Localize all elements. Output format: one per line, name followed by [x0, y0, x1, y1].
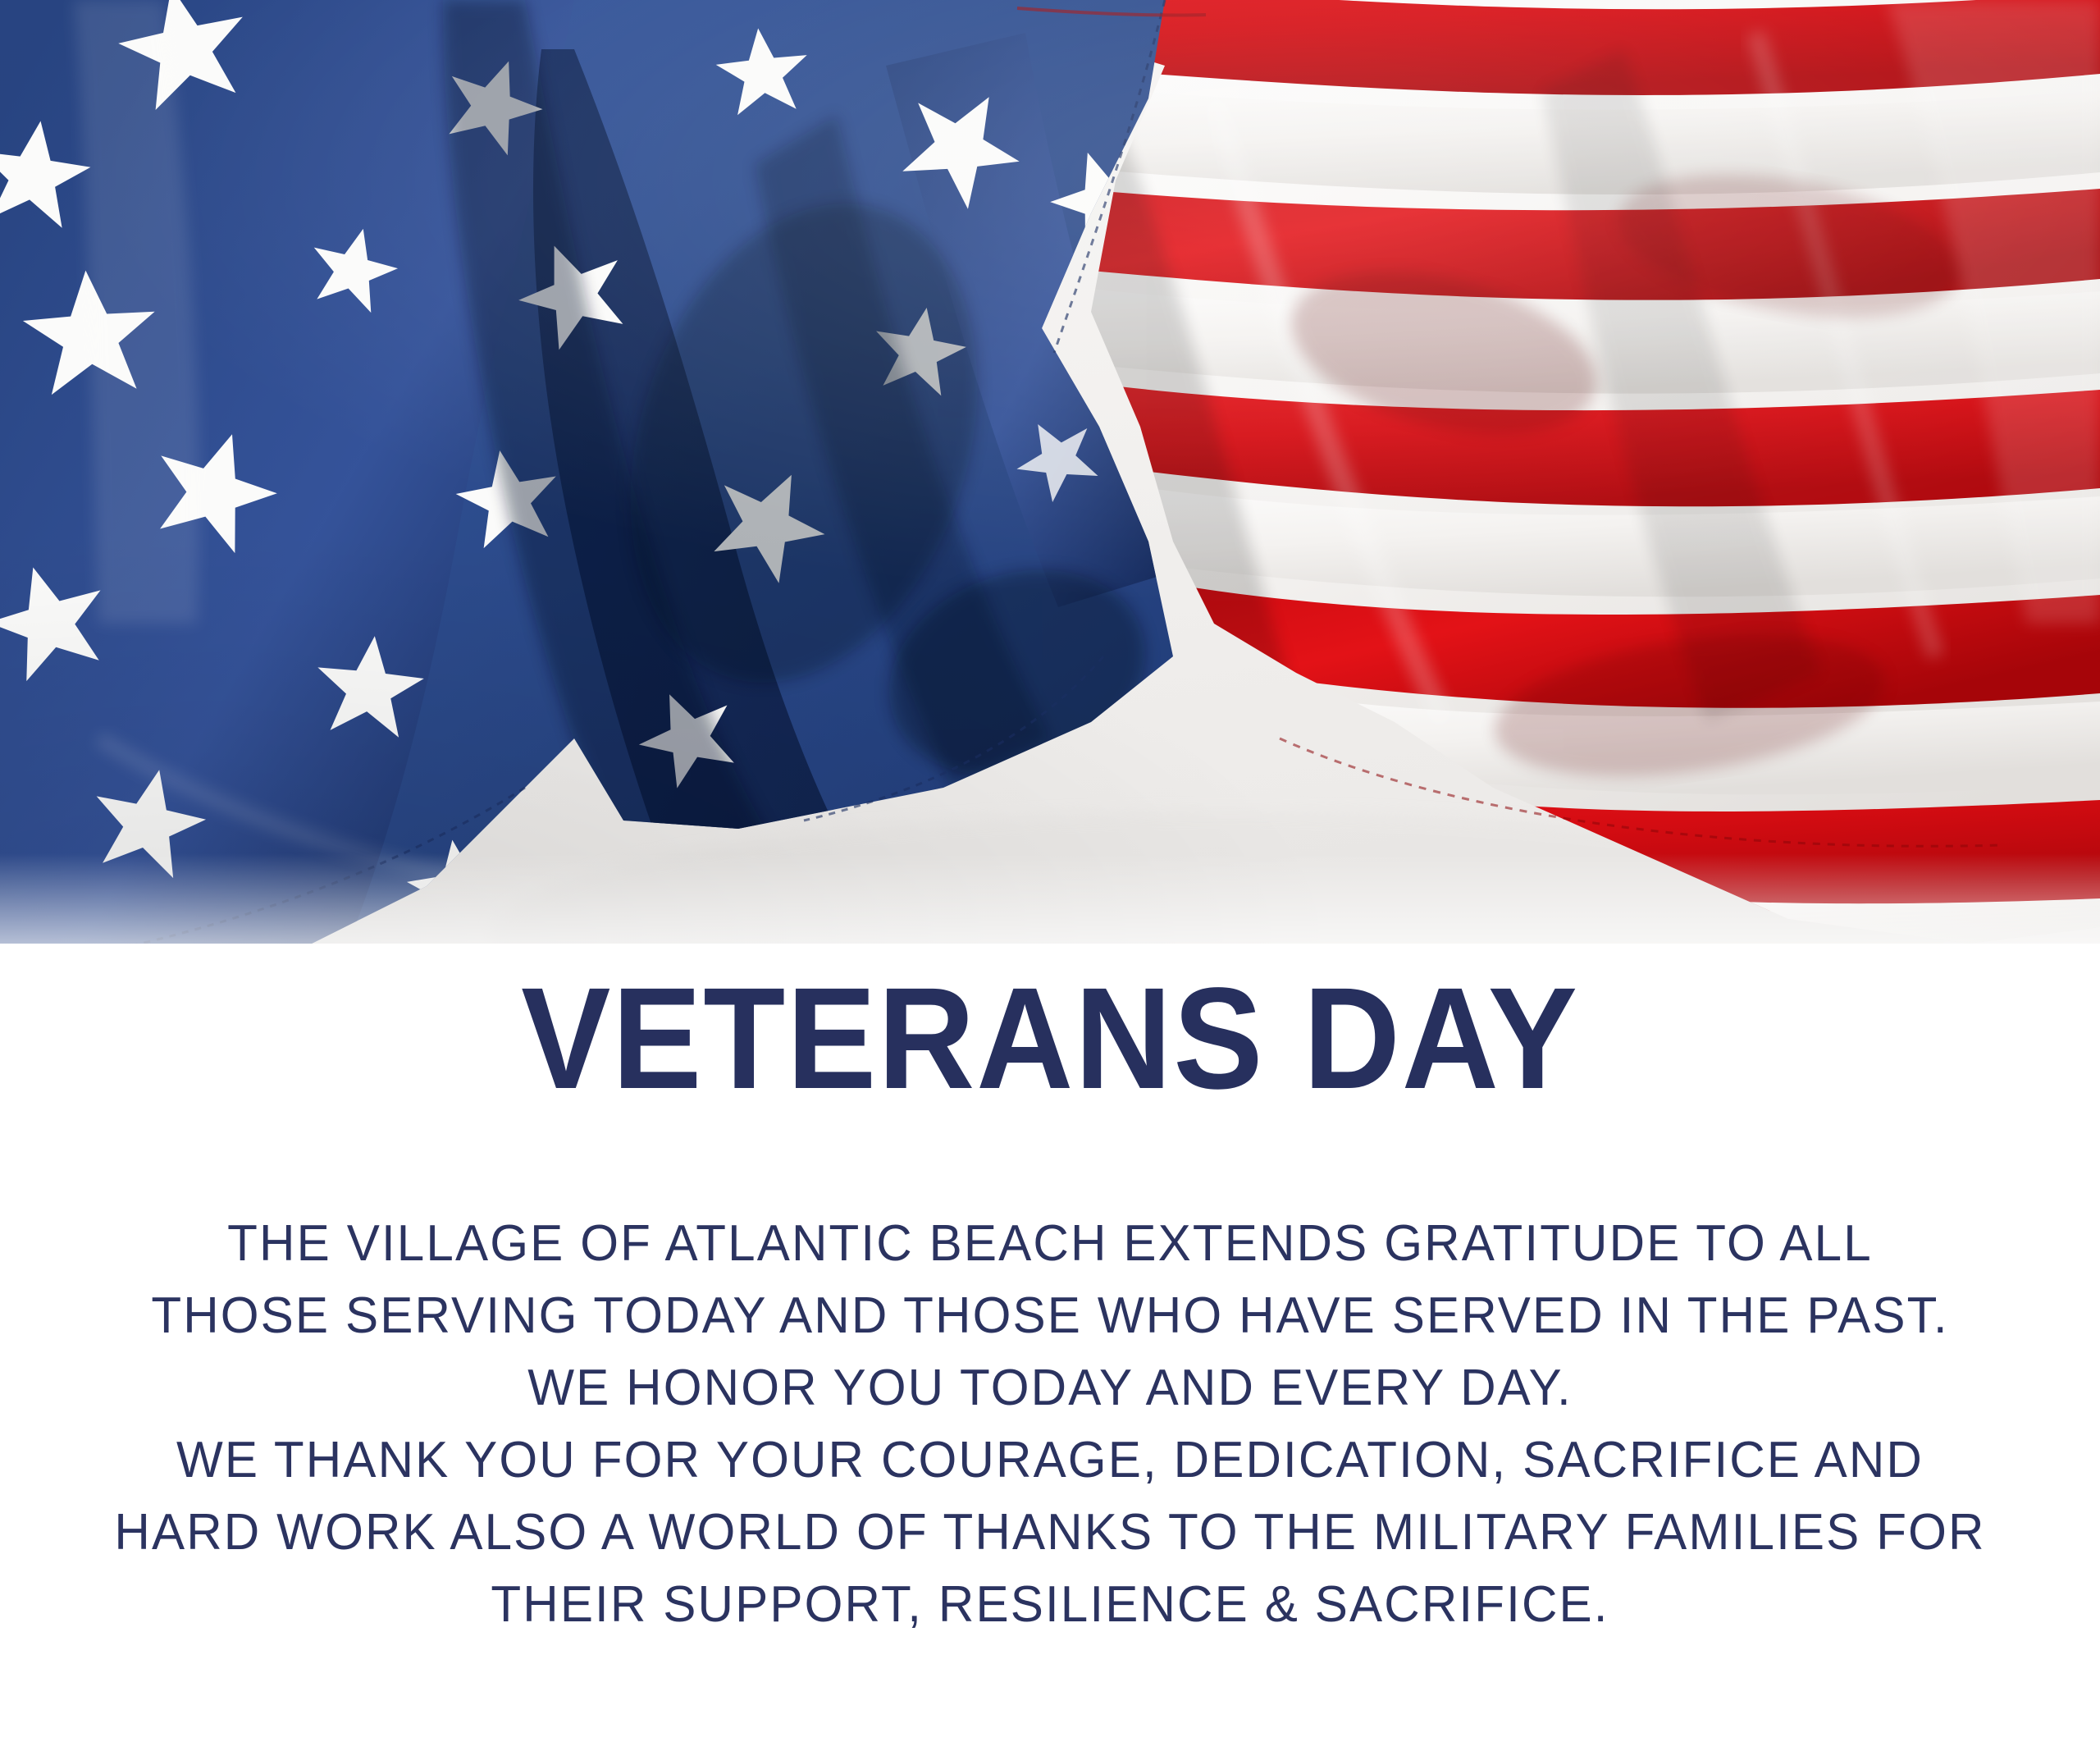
flag-illustration	[0, 0, 2100, 993]
message-line-2: THOSE SERVING TODAY AND THOSE WHO HAVE S…	[31, 1280, 2068, 1352]
message-line-6: THEIR SUPPORT, RESILIENCE & SACRIFICE.	[31, 1569, 2068, 1641]
text-panel: VETERANS DAY THE VILLAGE OF ATLANTIC BEA…	[0, 944, 2100, 1760]
gratitude-message: THE VILLAGE OF ATLANTIC BEACH EXTENDS GR…	[0, 1111, 2100, 1641]
message-line-4: WE THANK YOU FOR YOUR COURAGE, DEDICATIO…	[31, 1424, 2068, 1497]
message-line-5: HARD WORK ALSO A WORLD OF THANKS TO THE …	[31, 1497, 2068, 1569]
veterans-day-poster: VETERANS DAY THE VILLAGE OF ATLANTIC BEA…	[0, 0, 2100, 1760]
message-line-1: THE VILLAGE OF ATLANTIC BEACH EXTENDS GR…	[31, 1208, 2068, 1280]
message-line-3: WE HONOR YOU TODAY AND EVERY DAY.	[31, 1352, 2068, 1424]
american-flag-photo	[0, 0, 2100, 993]
page-title: VETERANS DAY	[74, 944, 2027, 1111]
